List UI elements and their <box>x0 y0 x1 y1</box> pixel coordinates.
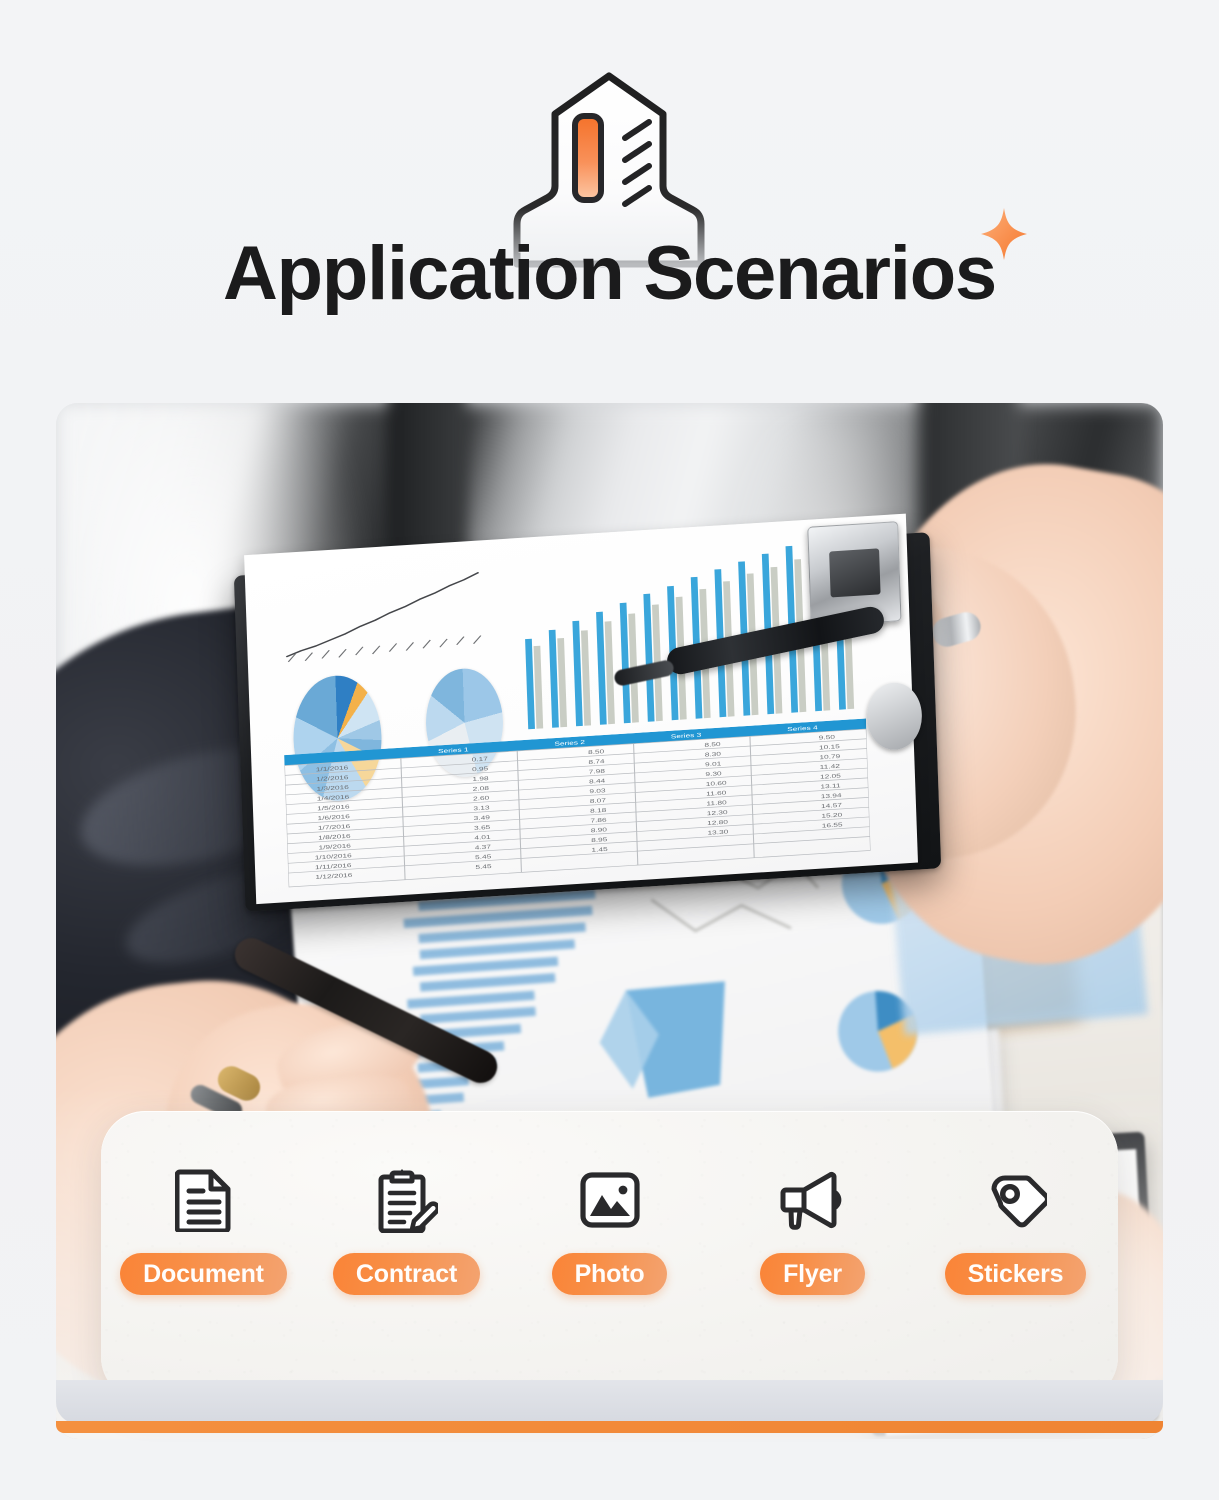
svg-text:4.01: 4.01 <box>474 834 490 841</box>
footer-gray-bar <box>56 1380 1163 1424</box>
badge-label-flyer[interactable]: Flyer <box>760 1253 865 1295</box>
clipboard-pencil-icon <box>374 1167 440 1233</box>
badge-document[interactable]: Document <box>102 1167 305 1295</box>
badge-flyer[interactable]: Flyer <box>711 1167 914 1295</box>
badge-contract[interactable]: Contract <box>305 1167 508 1295</box>
page-title-row: Application Scenarios <box>0 236 1219 312</box>
page-title: Application Scenarios <box>223 231 996 316</box>
document-icon <box>171 1167 237 1233</box>
page-header: Application Scenarios <box>0 0 1219 390</box>
svg-text:8.90: 8.90 <box>591 827 607 834</box>
badge-label-document[interactable]: Document <box>120 1253 287 1295</box>
svg-text:5.45: 5.45 <box>475 864 491 871</box>
svg-text:8.50: 8.50 <box>588 749 604 756</box>
badge-photo[interactable]: Photo <box>508 1167 711 1295</box>
svg-text:9.50: 9.50 <box>819 734 835 741</box>
badge-label-photo[interactable]: Photo <box>552 1253 668 1295</box>
svg-text:8.74: 8.74 <box>588 759 604 766</box>
svg-text:1/12/2016: 1/12/2016 <box>315 873 352 882</box>
footer-accent-bar <box>56 1421 1163 1433</box>
svg-text:2.08: 2.08 <box>473 786 489 793</box>
svg-text:8.30: 8.30 <box>705 751 721 758</box>
badge-label-stickers[interactable]: Stickers <box>945 1253 1087 1295</box>
svg-text:8.44: 8.44 <box>589 778 605 785</box>
svg-text:8.18: 8.18 <box>590 808 606 815</box>
svg-text:1/11/2016: 1/11/2016 <box>315 863 352 872</box>
svg-text:7.98: 7.98 <box>589 769 605 776</box>
svg-text:8.07: 8.07 <box>590 798 606 805</box>
megaphone-icon <box>780 1167 846 1233</box>
svg-text:0.95: 0.95 <box>472 766 488 773</box>
svg-text:5.45: 5.45 <box>475 854 491 861</box>
svg-text:1.98: 1.98 <box>472 776 488 783</box>
clipboard: 1/1/20161/2/2016 1/3/20161/4/2016 1/5/20… <box>233 532 941 911</box>
svg-text:3.13: 3.13 <box>473 805 489 812</box>
image-icon <box>577 1167 643 1233</box>
badge-label-contract[interactable]: Contract <box>333 1253 480 1295</box>
svg-text:4.37: 4.37 <box>475 844 491 851</box>
svg-text:7.86: 7.86 <box>590 817 606 824</box>
scenario-badge-list: Document <box>101 1167 1118 1295</box>
application-scenarios-page: Application Scenarios <box>0 0 1219 1500</box>
scenario-badge-card: Document <box>101 1111 1118 1401</box>
svg-text:3.65: 3.65 <box>474 825 490 832</box>
svg-text:9.30: 9.30 <box>705 771 721 778</box>
report-line-chart <box>278 567 506 665</box>
svg-text:2.60: 2.60 <box>473 795 489 802</box>
svg-text:1/10/2016: 1/10/2016 <box>315 853 352 862</box>
svg-text:8.95: 8.95 <box>591 837 607 844</box>
svg-text:9.03: 9.03 <box>589 788 605 795</box>
svg-text:3.49: 3.49 <box>474 815 490 822</box>
svg-text:0.17: 0.17 <box>472 756 488 763</box>
badge-stickers[interactable]: Stickers <box>914 1167 1117 1295</box>
price-tag-icon <box>983 1167 1049 1233</box>
sparkle-icon <box>978 206 1030 262</box>
svg-text:9.01: 9.01 <box>705 761 721 768</box>
svg-text:1.45: 1.45 <box>591 847 607 854</box>
svg-text:8.50: 8.50 <box>704 742 720 749</box>
